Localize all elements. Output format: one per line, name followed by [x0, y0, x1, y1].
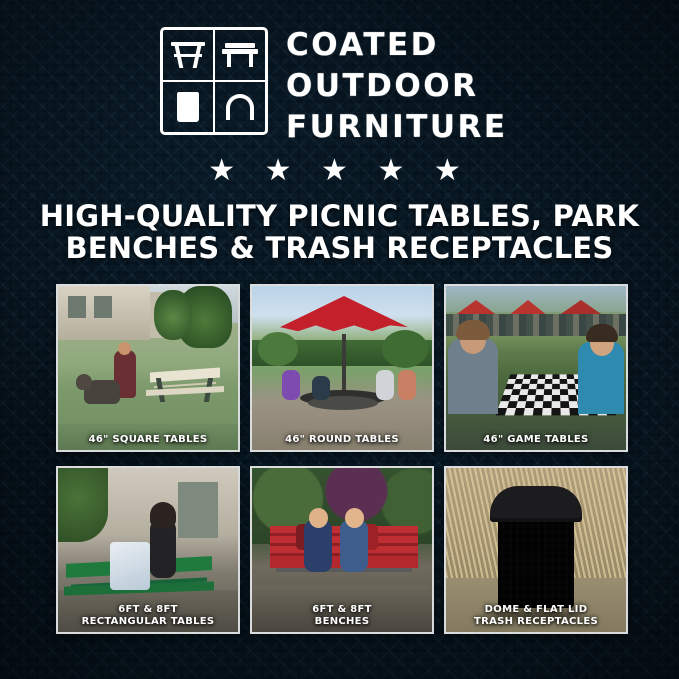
logo-mark-grid	[160, 27, 268, 135]
caption-line-2: TRASH RECEPTACLES	[448, 616, 624, 628]
product-card-trash-receptacles[interactable]: DOME & FLAT LID TRASH RECEPTACLES	[444, 466, 628, 634]
caption-line-2: RECTANGULAR TABLES	[60, 616, 236, 628]
product-caption: 46" ROUND TABLES	[252, 431, 432, 451]
caption-line-2: BENCHES	[254, 616, 430, 628]
brand-wordmark: COATED OUTDOOR FURNITURE	[286, 24, 540, 143]
star-rating: ★ ★ ★ ★ ★	[0, 156, 679, 186]
product-photo-round-tables	[252, 286, 432, 450]
arch-icon	[214, 81, 265, 132]
caption-line-1: 6FT & 8FT	[118, 604, 178, 615]
picnic-table-icon	[163, 30, 214, 81]
caption-line-1: 46" GAME TABLES	[483, 434, 588, 445]
caption-line-1: 6FT & 8FT	[312, 604, 372, 615]
product-caption: DOME & FLAT LID TRASH RECEPTACLES	[446, 601, 626, 632]
headline-line-2: BENCHES & TRASH RECEPTACLES	[30, 232, 649, 264]
brand-name-line3: FURNITURE	[286, 112, 540, 143]
product-card-round-tables[interactable]: 46" ROUND TABLES	[250, 284, 434, 452]
product-photo-game-tables	[446, 286, 626, 450]
product-caption: 46" GAME TABLES	[446, 431, 626, 451]
caption-line-1: 46" SQUARE TABLES	[89, 434, 208, 445]
brand-name-line2: OUTDOOR	[286, 71, 540, 102]
caption-line-1: DOME & FLAT LID	[485, 604, 588, 615]
product-photo-square-tables	[58, 286, 238, 450]
product-caption: 46" SQUARE TABLES	[58, 431, 238, 451]
product-banner: COATED OUTDOOR FURNITURE ★ ★ ★ ★ ★ HIGH-…	[0, 0, 679, 679]
product-grid: 46" SQUARE TABLES 46" ROUND TABLES	[56, 284, 624, 634]
trash-can-icon	[163, 81, 214, 132]
product-card-game-tables[interactable]: 46" GAME TABLES	[444, 284, 628, 452]
page-title: HIGH-QUALITY PICNIC TABLES, PARK BENCHES…	[30, 200, 649, 265]
bench-icon	[214, 30, 265, 81]
headline-line-1: HIGH-QUALITY PICNIC TABLES, PARK	[40, 199, 639, 233]
product-caption: 6FT & 8FT BENCHES	[252, 601, 432, 632]
brand-name-line1: COATED	[286, 30, 540, 61]
caption-line-1: 46" ROUND TABLES	[285, 434, 399, 445]
product-card-benches[interactable]: 6FT & 8FT BENCHES	[250, 466, 434, 634]
product-card-rectangular-tables[interactable]: 6FT & 8FT RECTANGULAR TABLES	[56, 466, 240, 634]
brand-logo: COATED OUTDOOR FURNITURE	[160, 24, 540, 142]
product-card-square-tables[interactable]: 46" SQUARE TABLES	[56, 284, 240, 452]
banner-content: COATED OUTDOOR FURNITURE ★ ★ ★ ★ ★ HIGH-…	[0, 0, 679, 679]
product-caption: 6FT & 8FT RECTANGULAR TABLES	[58, 601, 238, 632]
